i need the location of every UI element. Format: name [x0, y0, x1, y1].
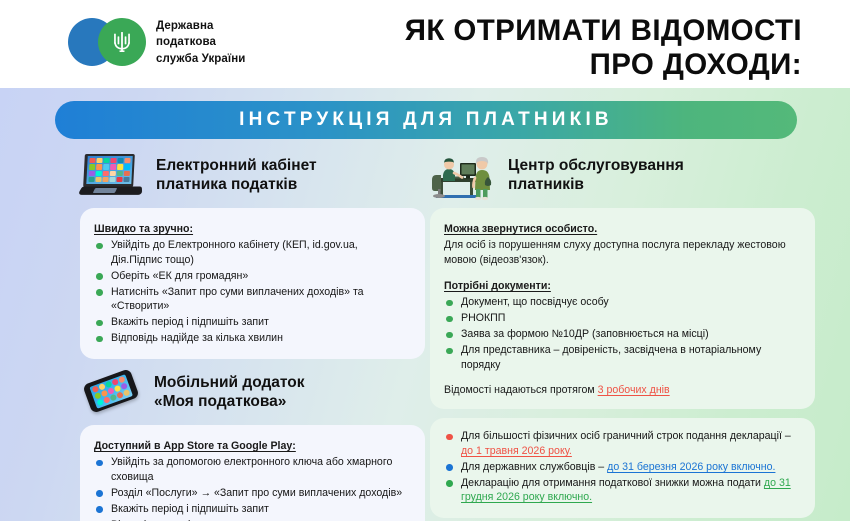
smartphone-icon	[80, 372, 142, 414]
card-declaration-deadlines: Для більшості фізичних осіб граничний ст…	[430, 418, 815, 518]
page-title: ЯК ОТРИМАТИ ВІДОМОСТІ ПРО ДОХОДИ:	[302, 14, 802, 82]
footer-highlight: 3 робочих днів	[598, 384, 670, 396]
list-item: РНОКПП	[444, 311, 801, 326]
organization-logo: Державна податкова служба України	[68, 18, 245, 67]
section-header-electronic-cabinet: Електронний кабінет платника податків	[80, 150, 425, 202]
card-electronic-cabinet: Швидко та зручно: Увійдіть до Електронно…	[80, 208, 425, 359]
list-item: Увійдіть за допомогою електронного ключа…	[94, 455, 411, 484]
instruction-banner-label: ІНСТРУКЦІЯ ДЛЯ ПЛАТНИКІВ	[239, 109, 613, 131]
page-header: Державна податкова служба України ЯК ОТР…	[0, 0, 850, 88]
logo-text: Державна податкова служба України	[156, 18, 245, 67]
deadline-highlight: до 31 березня 2026 року включно.	[607, 461, 775, 473]
deadline-prefix: Декларацію для отримання податкової зниж…	[461, 477, 764, 489]
section-title-line2: «Моя податкова»	[154, 393, 305, 412]
card-subtitle: Швидко та зручно:	[94, 223, 193, 235]
section-title-line1: Електронний кабінет	[156, 157, 317, 176]
list-item: Заява за формою №10ДР (заповнюється на м…	[444, 327, 801, 342]
card-footer-processing-time: Відомості надаються протягом 3 робочих д…	[444, 383, 801, 398]
deadline-prefix: Для більшості фізичних осіб граничний ст…	[461, 430, 791, 442]
list-item: Вкажіть період і підпишіть запит	[94, 502, 411, 517]
left-column: Електронний кабінет платника податків Шв…	[80, 150, 425, 521]
section-header-service-center: Центр обслуговування платників	[430, 150, 815, 202]
deadline-highlight: до 1 травня 2026 року.	[461, 445, 572, 457]
list-item: Відповідь – за кілька хвилин	[94, 518, 411, 521]
section-title-line1: Центр обслуговування	[508, 157, 684, 176]
list-item: Для державних службовців – до 31 березня…	[444, 460, 801, 475]
laptop-icon	[80, 153, 144, 199]
content-area: ІНСТРУКЦІЯ ДЛЯ ПЛАТНИКІВ	[0, 88, 850, 521]
list-item: Розділ «Послуги» → «Запит про суми випла…	[94, 486, 411, 501]
logo-text-line1: Державна	[156, 18, 245, 34]
instruction-banner: ІНСТРУКЦІЯ ДЛЯ ПЛАТНИКІВ	[55, 101, 797, 139]
section-title-line2: платників	[508, 176, 684, 195]
list-item: Документ, що посвідчує особу	[444, 295, 801, 310]
footer-prefix: Відомості надаються протягом	[444, 384, 598, 396]
service-desk-icon	[430, 151, 496, 201]
list-item: Оберіть «ЕК для громадян»	[94, 269, 411, 284]
list-electronic-cabinet-steps: Увійдіть до Електронного кабінету (КЕП, …	[94, 238, 411, 346]
list-item: Увійдіть до Електронного кабінету (КЕП, …	[94, 238, 411, 267]
list-item: Вкажіть період і підпишіть запит	[94, 315, 411, 330]
infographic-page: Державна податкова служба України ЯК ОТР…	[0, 0, 850, 521]
logo-text-line3: служба України	[156, 51, 245, 67]
section-title-mobile-app: Мобільний додаток «Моя податкова»	[154, 374, 305, 412]
logo-circles	[68, 18, 146, 66]
deadline-prefix: Для державних службовців –	[461, 461, 607, 473]
list-declaration-deadlines: Для більшості фізичних осіб граничний ст…	[444, 429, 801, 505]
card-service-center: Можна звернутися особисто. Для осіб із п…	[430, 208, 815, 409]
logo-text-line2: податкова	[156, 34, 245, 50]
list-mobile-app-steps: Увійдіть за допомогою електронного ключа…	[94, 455, 411, 521]
card-mobile-app: Доступний в App Store та Google Play: Ув…	[80, 425, 425, 521]
list-item: Для представника – довіреність, засвідче…	[444, 343, 801, 372]
section-header-mobile-app: Мобільний додаток «Моя податкова»	[80, 367, 425, 419]
list-item: Відповідь надійде за кілька хвилин	[94, 331, 411, 346]
trident-icon	[98, 18, 146, 66]
list-item: Декларацію для отримання податкової зниж…	[444, 476, 801, 505]
card-subtitle-required-documents: Потрібні документи:	[444, 280, 551, 292]
section-title-line1: Мобільний додаток	[154, 374, 305, 393]
page-title-line2: ПРО ДОХОДИ:	[302, 48, 802, 82]
list-required-documents: Документ, що посвідчує особу РНОКПП Заяв…	[444, 295, 801, 372]
list-item: Натисніть «Запит про суми виплачених дох…	[94, 285, 411, 314]
list-item: Для більшості фізичних осіб граничний ст…	[444, 429, 801, 458]
right-column: Центр обслуговування платників Можна зве…	[430, 150, 815, 518]
section-title-electronic-cabinet: Електронний кабінет платника податків	[156, 157, 317, 195]
section-title-service-center: Центр обслуговування платників	[508, 157, 684, 195]
card-paragraph-sign-language: Для осіб із порушенням слуху доступна по…	[444, 238, 801, 267]
card-subtitle-personal-visit: Можна звернутися особисто.	[444, 223, 597, 235]
card-subtitle: Доступний в App Store та Google Play:	[94, 440, 296, 452]
page-title-line1: ЯК ОТРИМАТИ ВІДОМОСТІ	[302, 14, 802, 48]
section-title-line2: платника податків	[156, 176, 317, 195]
